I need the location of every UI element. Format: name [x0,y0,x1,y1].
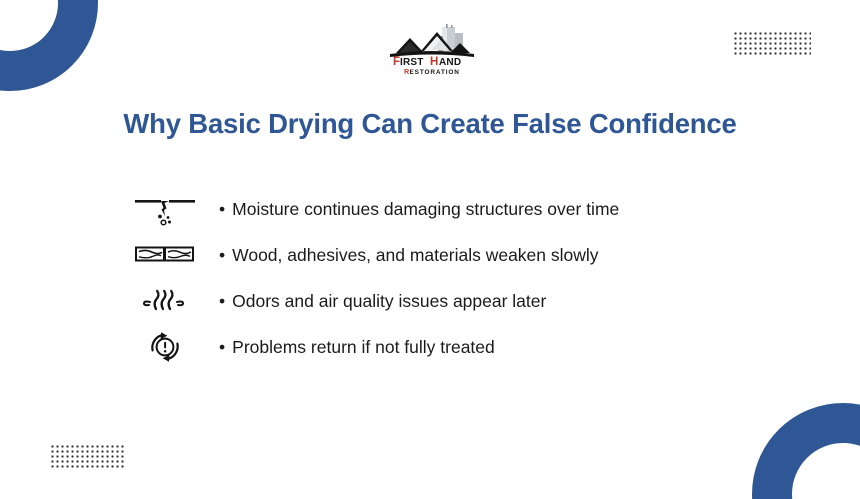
logo-artwork: F IRST H AND R ESTORATION [388,24,476,76]
bullet-label: Wood, adhesives, and materials weaken sl… [232,245,598,265]
bullet-marker: • [219,291,225,312]
recurring-warning-icon [131,327,199,367]
svg-text:H: H [430,56,438,68]
list-item-text: •Problems return if not fully treated [219,337,495,358]
list-item-text: •Moisture continues damaging structures … [219,199,619,220]
list-item: •Wood, adhesives, and materials weaken s… [131,232,771,278]
wood-plank-icon [131,235,199,275]
bullet-label: Moisture continues damaging structures o… [232,199,619,219]
logo-text-line2: R ESTORATION [404,67,460,76]
list-item-text: •Odors and air quality issues appear lat… [219,291,546,312]
svg-text:AND: AND [439,57,461,68]
list-item: •Odors and air quality issues appear lat… [131,278,771,324]
first-hand-restoration-logo: F IRST H AND R ESTORATION [388,24,476,76]
bullet-marker: • [219,245,225,266]
svg-text:ESTORATION: ESTORATION [410,69,460,76]
bullet-label: Odors and air quality issues appear late… [232,291,546,311]
odor-waves-icon [131,281,199,321]
slide-canvas: F IRST H AND R ESTORATION Why Basic Dryi… [0,0,860,499]
list-item-text: •Wood, adhesives, and materials weaken s… [219,245,599,266]
list-item: •Problems return if not fully treated [131,324,771,370]
bullet-marker: • [219,337,225,358]
dot-grid-top-right [733,31,811,57]
page-title: Why Basic Drying Can Create False Confid… [0,108,860,140]
bullet-label: Problems return if not fully treated [232,337,495,357]
list-item: •Moisture continues damaging structures … [131,186,771,232]
decorative-arc-top-left [0,0,98,91]
bullet-marker: • [219,199,225,220]
water-drip-crack-icon [131,189,199,229]
bullet-list: •Moisture continues damaging structures … [131,186,771,370]
svg-text:F: F [393,56,400,68]
decorative-arc-bottom-right [752,403,860,499]
dot-grid-bottom-left [50,444,126,470]
